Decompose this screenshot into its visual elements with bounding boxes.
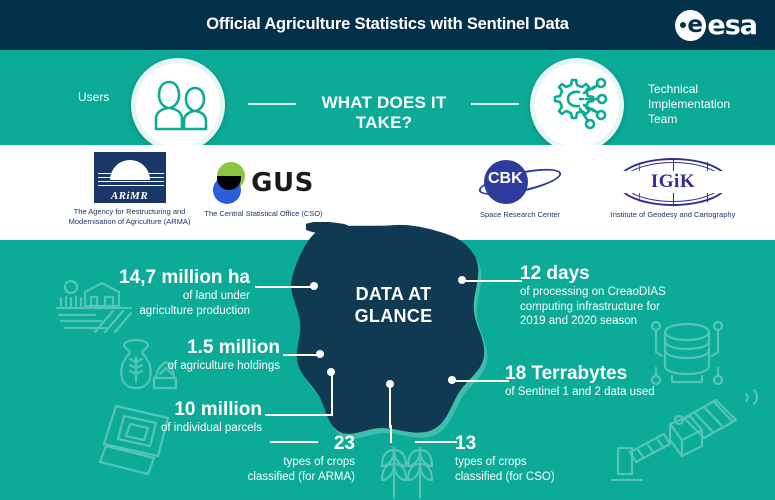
connector-parcels-h	[265, 414, 333, 416]
map-title-line2: GLANCE	[355, 306, 433, 326]
divider-line-left	[248, 103, 296, 105]
map-dot-holdings	[316, 350, 324, 358]
connector-parcels-v	[331, 372, 333, 416]
stat-land-under-production: 14,7 million ha of land under agricultur…	[60, 266, 250, 318]
esa-logo-dot	[680, 22, 686, 28]
map-dot-terabytes	[448, 376, 456, 384]
technical-implementation-team-label: Technical Implementation Team	[648, 82, 730, 127]
stat-holdings-desc1: of agriculture holdings	[100, 359, 280, 374]
cbk-wordmark: CBK	[488, 170, 523, 188]
map-title-line1: DATA AT	[356, 284, 432, 304]
stat-parcels-desc1: of individual parcels	[110, 421, 262, 436]
stat-processing-days: 12 days of processing on CreaoDIAS compu…	[520, 262, 735, 329]
esa-logo-mark: e	[675, 10, 706, 41]
stat-cso-desc1: types of crops	[455, 455, 575, 470]
esa-logo: e esa	[675, 9, 757, 41]
stat-agriculture-holdings: 1.5 million of agriculture holdings	[100, 336, 280, 374]
connector-processing	[464, 280, 522, 282]
partner-caption-gus: The Central Statistical Office (CSO)	[196, 209, 331, 219]
partner-logo-igik: IGiK Institute of Geodesy and Cartograph…	[588, 158, 758, 220]
stat-tera-desc1: of Sentinel 1 and 2 data used	[505, 385, 725, 400]
technical-implementation-team-badge	[530, 58, 624, 152]
two-people-icon	[148, 79, 208, 131]
stat-crop-types-cso: 13 types of crops classified (for CSO)	[455, 432, 575, 484]
stat-land-desc2: agriculture production	[60, 304, 250, 319]
igik-logo-mark: IGiK	[617, 158, 729, 206]
igik-wordmark: IGiK	[617, 171, 729, 193]
cbk-logo-mark: CBK	[476, 158, 564, 206]
partner-logo-gus: GUS The Central Statistical Office (CSO)	[196, 160, 331, 219]
gus-wordmark: GUS	[251, 168, 314, 198]
map-dot-processing	[458, 276, 466, 284]
connector-cso	[415, 441, 457, 443]
stat-tera-value: 18 Terrabytes	[505, 362, 725, 385]
partner-caption-cbk: Space Research Center	[460, 210, 580, 220]
arimr-caption-line2: Modernisation of Agriculture (ARMA)	[69, 217, 191, 226]
esa-logo-wordmark: esa	[707, 12, 757, 39]
stat-land-value: 14,7 million ha	[60, 266, 250, 289]
stat-days-value: 12 days	[520, 262, 735, 285]
connector-land	[255, 286, 315, 288]
stat-crop-types-arma: 23 types of crops classified (for ARMA)	[245, 432, 355, 484]
page-title: Official Agriculture Statistics with Sen…	[0, 15, 775, 34]
stat-cso-value: 13	[455, 432, 575, 455]
connector-center-bottom	[389, 384, 391, 428]
stat-days-desc1: of processing on CreaoDIAS	[520, 285, 735, 300]
gus-circles-icon	[213, 162, 249, 204]
partner-caption-igik: Institute of Geodesy and Cartography	[588, 210, 758, 220]
team-label-line1: Technical	[648, 82, 698, 96]
partner-logo-arimr: ARiMR The Agency for Restructuring and M…	[42, 152, 217, 227]
infographic-root: Official Agriculture Statistics with Sen…	[0, 0, 775, 500]
map-dot-land	[310, 282, 318, 290]
stat-data-volume: 18 Terrabytes of Sentinel 1 and 2 data u…	[505, 362, 725, 400]
stat-arma-value: 23	[245, 432, 355, 455]
team-label-line3: Team	[648, 112, 677, 126]
users-label: Users	[78, 90, 109, 105]
team-label-line2: Implementation	[648, 97, 730, 111]
gear-network-icon	[546, 76, 608, 134]
users-badge	[131, 58, 225, 152]
stat-land-desc1: of land under	[60, 289, 250, 304]
esa-logo-e: e	[687, 14, 703, 37]
partner-caption-arimr: The Agency for Restructuring and Moderni…	[42, 207, 217, 227]
arimr-logo-mark: ARiMR	[94, 152, 166, 203]
stat-arma-desc2: classified (for ARMA)	[245, 470, 355, 485]
stat-days-desc3: 2019 and 2020 season	[520, 314, 735, 329]
stat-days-desc2: computing infrastructure for	[520, 300, 735, 315]
map-dot-parcels	[327, 368, 335, 376]
arimr-wordmark: ARiMR	[95, 190, 165, 202]
band-center-title: WHAT DOES IT TAKE?	[296, 93, 472, 133]
connector-terabytes	[455, 380, 509, 382]
gus-logo-mark: GUS	[196, 160, 331, 205]
divider-line-right	[471, 103, 519, 105]
map-center-title: DATA AT GLANCE	[326, 283, 461, 327]
satellite-icon	[608, 388, 768, 498]
partner-logo-cbk: CBK Space Research Center	[460, 158, 580, 220]
stat-individual-parcels: 10 million of individual parcels	[110, 398, 262, 436]
stat-cso-desc2: classified (for CSO)	[455, 470, 575, 485]
stat-arma-desc1: types of crops	[245, 455, 355, 470]
stat-holdings-value: 1.5 million	[100, 336, 280, 359]
poland-map-shape	[286, 222, 501, 452]
arimr-field-lines	[95, 173, 165, 189]
stat-parcels-value: 10 million	[110, 398, 262, 421]
arimr-caption-line1: The Agency for Restructuring and	[74, 207, 186, 216]
